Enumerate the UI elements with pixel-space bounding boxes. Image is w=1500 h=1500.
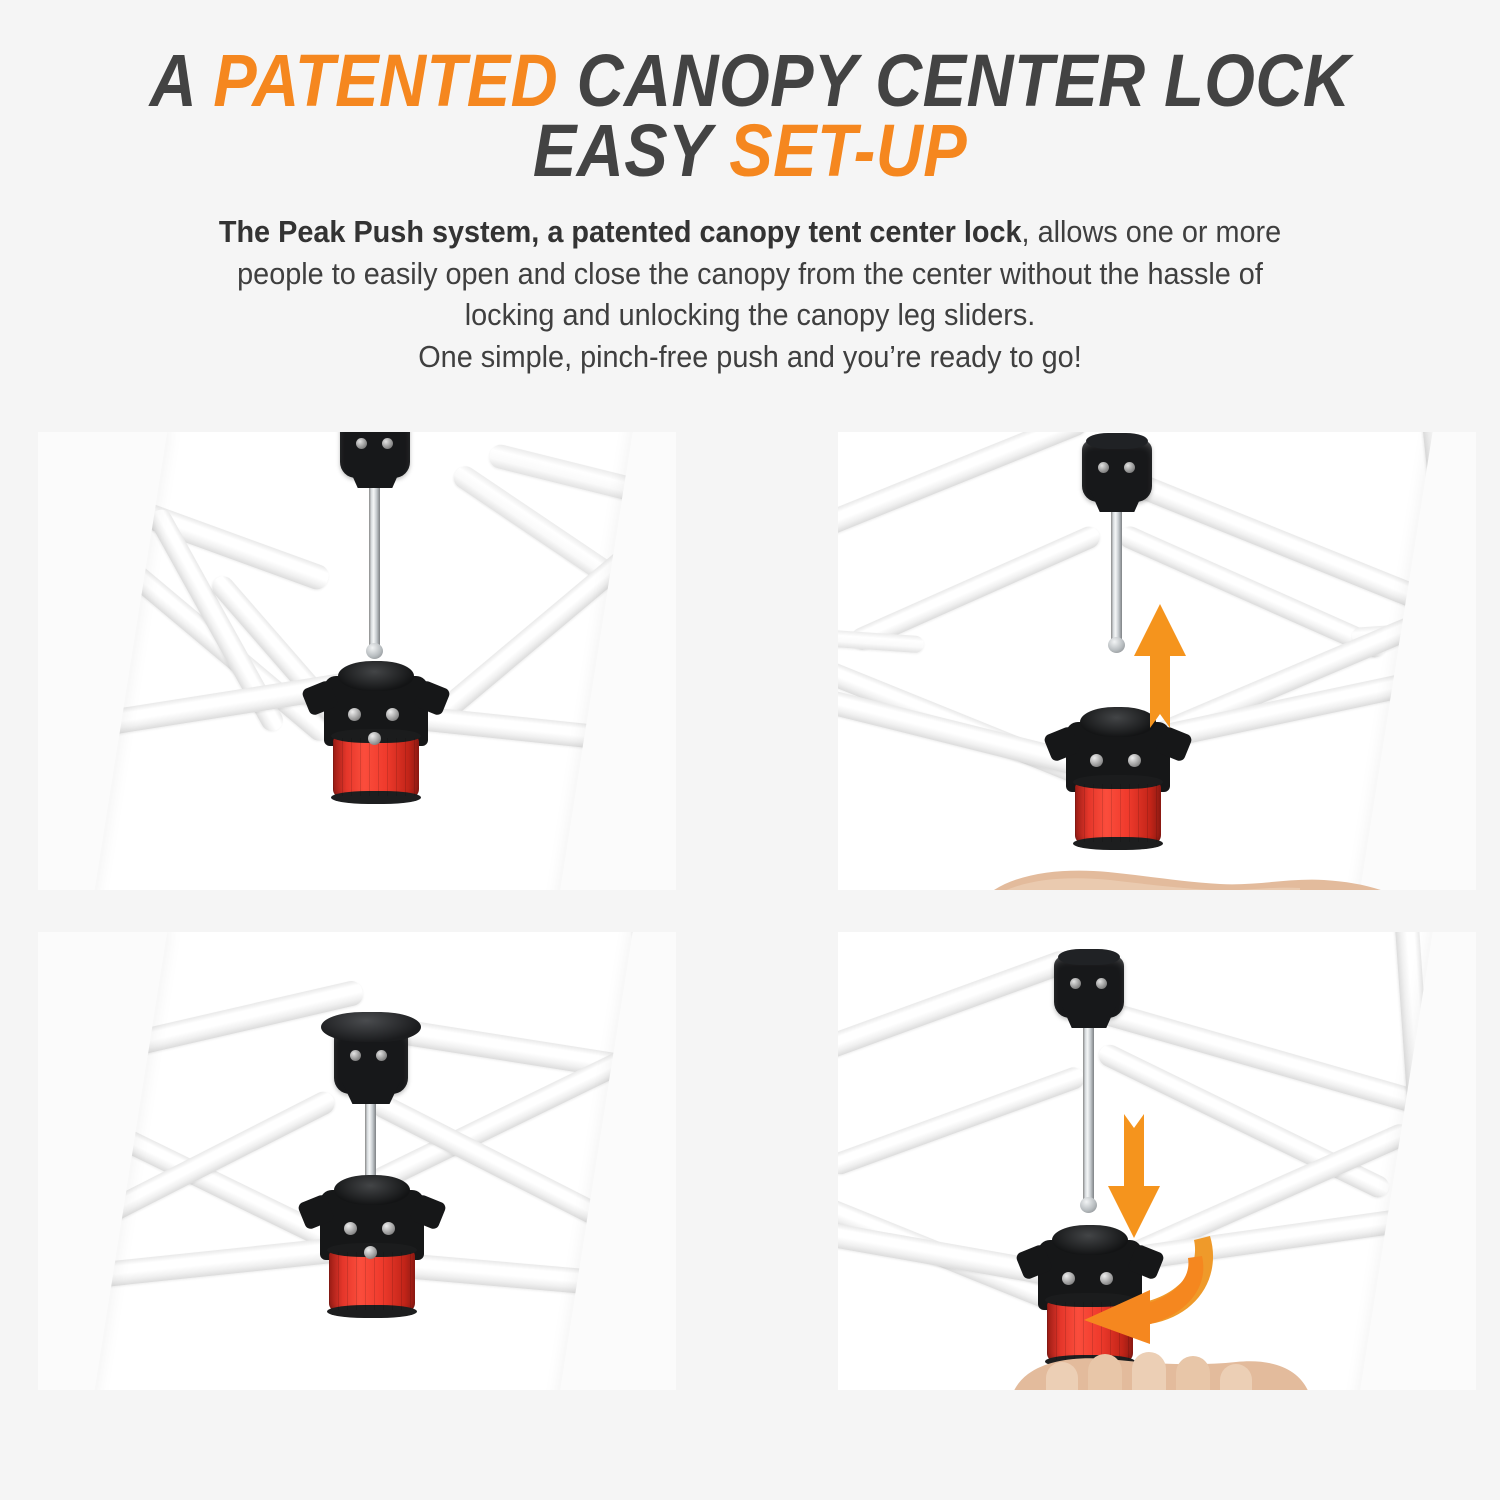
- description-bold-lead: The Peak Push system, a patented canopy …: [219, 214, 1022, 249]
- pole-right-lower-diag: [427, 537, 649, 728]
- hub-bolt-right: [386, 708, 399, 721]
- pole-peak-left: [838, 948, 1074, 1073]
- arrow-rotate-icon: [1034, 1228, 1224, 1348]
- headline-block: A PATENTED CANOPY CENTER LOCK EASY SET-U…: [0, 0, 1500, 185]
- peak-fitting-black-capped: [334, 1028, 408, 1094]
- peak-fitting-black: [340, 432, 410, 478]
- description-line-1-rest: , allows one or more: [1022, 214, 1282, 249]
- footer-spacer: [0, 1438, 1500, 1500]
- panel-3-photo: [38, 932, 676, 1390]
- steel-push-rod: [1083, 1012, 1094, 1204]
- pole-far-right-vertical: [626, 932, 676, 1390]
- open-hand-icon: [988, 828, 1428, 890]
- pole-peak-right: [1093, 998, 1446, 1120]
- panel-2-hand-pushing-up: [838, 432, 1476, 890]
- headline-accent-patented: PATENTED: [213, 39, 558, 122]
- panel-grid: [0, 424, 1500, 1434]
- description-line-2: people to easily open and close the cano…: [127, 253, 1373, 295]
- headline-text-c: EASY: [533, 109, 729, 192]
- panel-3-canopy-frame-locked: [38, 932, 676, 1390]
- headline-text-a: A: [150, 39, 214, 122]
- pole-peak-left: [838, 432, 1090, 547]
- pole-mid-left: [838, 1064, 1087, 1177]
- steel-push-rod: [1111, 494, 1122, 644]
- peak-screw-right: [1124, 462, 1135, 473]
- peak-screw-right: [376, 1050, 387, 1061]
- pole-upper-left-diag: [79, 1109, 350, 1257]
- peak-screw-right: [1096, 978, 1107, 989]
- description-paragraph: The Peak Push system, a patented canopy …: [127, 211, 1373, 377]
- description-line-4: One simple, pinch-free push and you’re r…: [127, 336, 1373, 378]
- pole-top-left: [38, 979, 365, 1089]
- panel-4-photo: [838, 932, 1476, 1390]
- hub-bolt-left: [1090, 754, 1103, 767]
- arrow-up-icon: [1132, 602, 1188, 742]
- steel-push-rod: [369, 468, 380, 650]
- arrow-down-icon: [1106, 1104, 1162, 1240]
- headline-accent-setup: SET-UP: [729, 109, 967, 192]
- red-lock-barrel-ribs: [329, 1252, 415, 1310]
- panel-4-hand-twisting-down: [838, 932, 1476, 1390]
- hub-bolt-left: [344, 1222, 357, 1235]
- peak-screw-left: [350, 1050, 361, 1061]
- peak-screw-left: [1098, 462, 1109, 473]
- pole-far-right-edge: [1418, 432, 1476, 890]
- hub-bolt-left: [348, 708, 361, 721]
- hub-bolt-bottom: [368, 732, 381, 745]
- hub-bolt-bottom: [364, 1246, 377, 1259]
- hub-bolt-right: [1128, 754, 1141, 767]
- peak-screw-left: [356, 438, 367, 449]
- panel-1-canopy-frame-unlocked: [38, 432, 676, 890]
- red-lock-barrel-ribs: [333, 738, 419, 796]
- pole-far-right-edge: [1392, 932, 1455, 1390]
- peak-fitting-black: [1082, 440, 1152, 502]
- peak-screw-left: [1070, 978, 1081, 989]
- peak-fitting-black: [1054, 956, 1124, 1018]
- hub-bolt-right: [382, 1222, 395, 1235]
- hub-ear-right: [409, 1193, 447, 1230]
- panel-2-photo: [838, 432, 1476, 890]
- headline-line-2: EASY SET-UP: [90, 116, 1410, 186]
- peak-screw-right: [382, 438, 393, 449]
- description-line-1: The Peak Push system, a patented canopy …: [127, 211, 1373, 253]
- description-line-3: locking and unlocking the canopy leg sli…: [127, 294, 1373, 336]
- headline-line-1: A PATENTED CANOPY CENTER LOCK: [90, 46, 1410, 116]
- panel-1-photo: [38, 432, 676, 890]
